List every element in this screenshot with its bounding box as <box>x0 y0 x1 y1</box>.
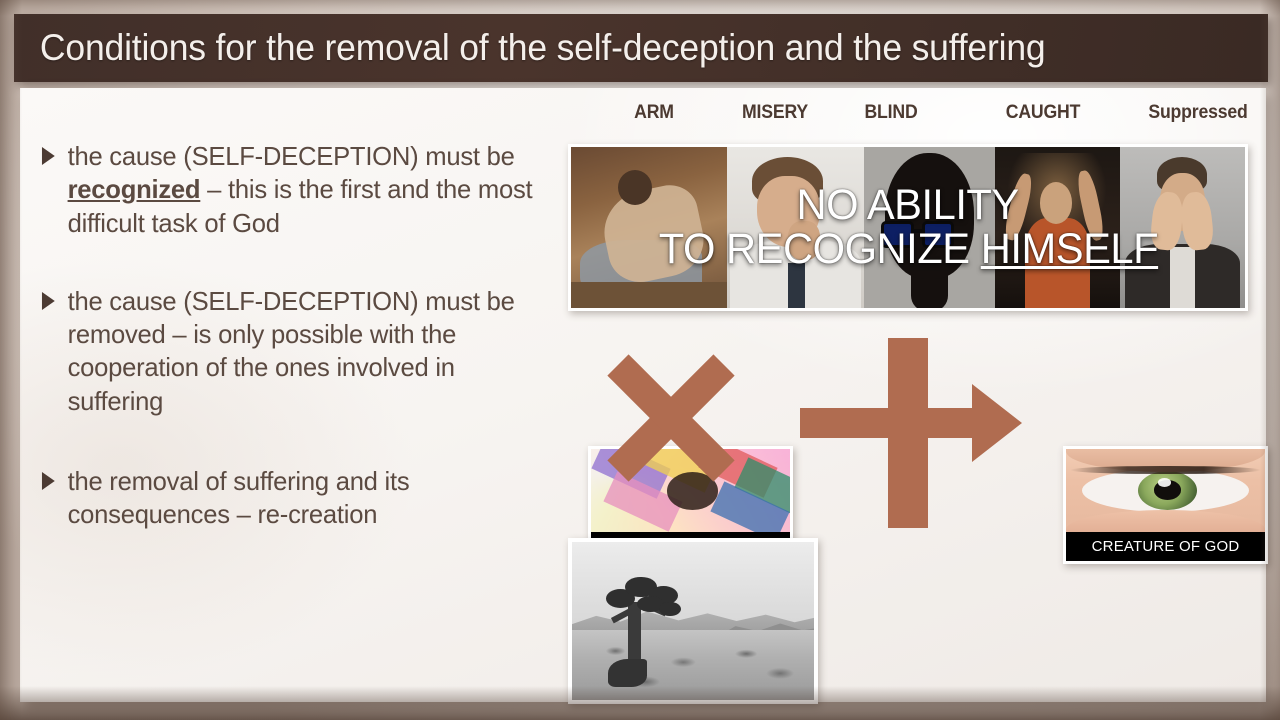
desert-joshua-tree-photo <box>572 542 814 700</box>
colorful-eye-photo <box>591 449 790 532</box>
strip-header-arm: ARM <box>634 102 674 124</box>
eye-lower-lid-shape <box>1066 510 1265 532</box>
caught-prisoner-photo <box>995 147 1120 308</box>
desert-sky <box>572 542 814 624</box>
sunglasses-right-lens-icon <box>922 221 955 248</box>
blind-head-shape <box>885 153 974 279</box>
desert-image-card <box>568 538 818 704</box>
bullet-2-text: the cause (SELF-DECEPTION) must be remov… <box>68 286 515 416</box>
bullet-list: the cause (SELF-DECEPTION) must be recog… <box>40 140 552 531</box>
photo-strip-images <box>571 147 1245 308</box>
misery-tie-shape <box>788 263 806 308</box>
joshua-tree-root <box>608 659 647 687</box>
sunglasses-left-lens-icon <box>881 221 914 248</box>
bullet-item-1: the cause (SELF-DECEPTION) must be recog… <box>40 140 544 240</box>
suppressed-man-photo <box>1120 147 1245 308</box>
caught-body-shape <box>1025 218 1090 308</box>
strip-header-blind: BLIND <box>864 102 917 124</box>
bullet-item-3: the removal of suffering and its consequ… <box>40 465 544 532</box>
misery-man-photo <box>727 147 864 308</box>
strip-header-suppressed: Suppressed <box>1148 102 1247 124</box>
desert-ground <box>572 630 814 700</box>
suppressed-left-hand-shape <box>1149 191 1185 252</box>
eye-lashes-shape <box>1070 466 1261 474</box>
slide-title-bar: Conditions for the removal of the self-d… <box>14 14 1268 82</box>
triangle-bullet-icon <box>42 472 55 490</box>
arm-floor-shape <box>571 282 727 308</box>
blind-silhouette-photo <box>864 147 995 308</box>
suppressed-right-hand-shape <box>1179 191 1215 252</box>
arm-painting-photo <box>571 147 727 308</box>
colorful-eye-iris <box>667 472 719 510</box>
photo-strip-header-row: ARM MISERY BLIND CAUGHT Suppressed <box>568 102 1266 136</box>
creature-of-god-image-card: CREATURE OF GOD <box>1063 446 1268 564</box>
bullet-1-text-before: the cause (SELF-DECEPTION) must be <box>68 141 515 171</box>
creature-of-god-caption: CREATURE OF GOD <box>1066 532 1265 561</box>
cross-arrow-shape-icon <box>800 338 1032 528</box>
strip-header-misery: MISERY <box>742 102 808 124</box>
human-eye-photo <box>1066 449 1265 532</box>
suppressed-shirt-shape <box>1170 247 1195 308</box>
slide-title: Conditions for the removal of the self-d… <box>14 27 1045 69</box>
arm-head-shape <box>618 170 652 205</box>
photo-strip: NO ABILITY TO RECOGNIZE HIMSELF <box>568 144 1248 311</box>
misery-hand-shape <box>788 221 821 260</box>
bullet-1-emphasis: recognized <box>68 174 201 204</box>
bullet-3-text: the removal of suffering and its consequ… <box>68 466 410 529</box>
triangle-bullet-icon <box>42 292 55 310</box>
triangle-bullet-icon <box>42 147 55 165</box>
presentation-slide: Conditions for the removal of the self-d… <box>0 0 1280 720</box>
strip-header-caught: CAUGHT <box>1006 102 1080 124</box>
bullet-item-2: the cause (SELF-DECEPTION) must be remov… <box>40 285 544 418</box>
